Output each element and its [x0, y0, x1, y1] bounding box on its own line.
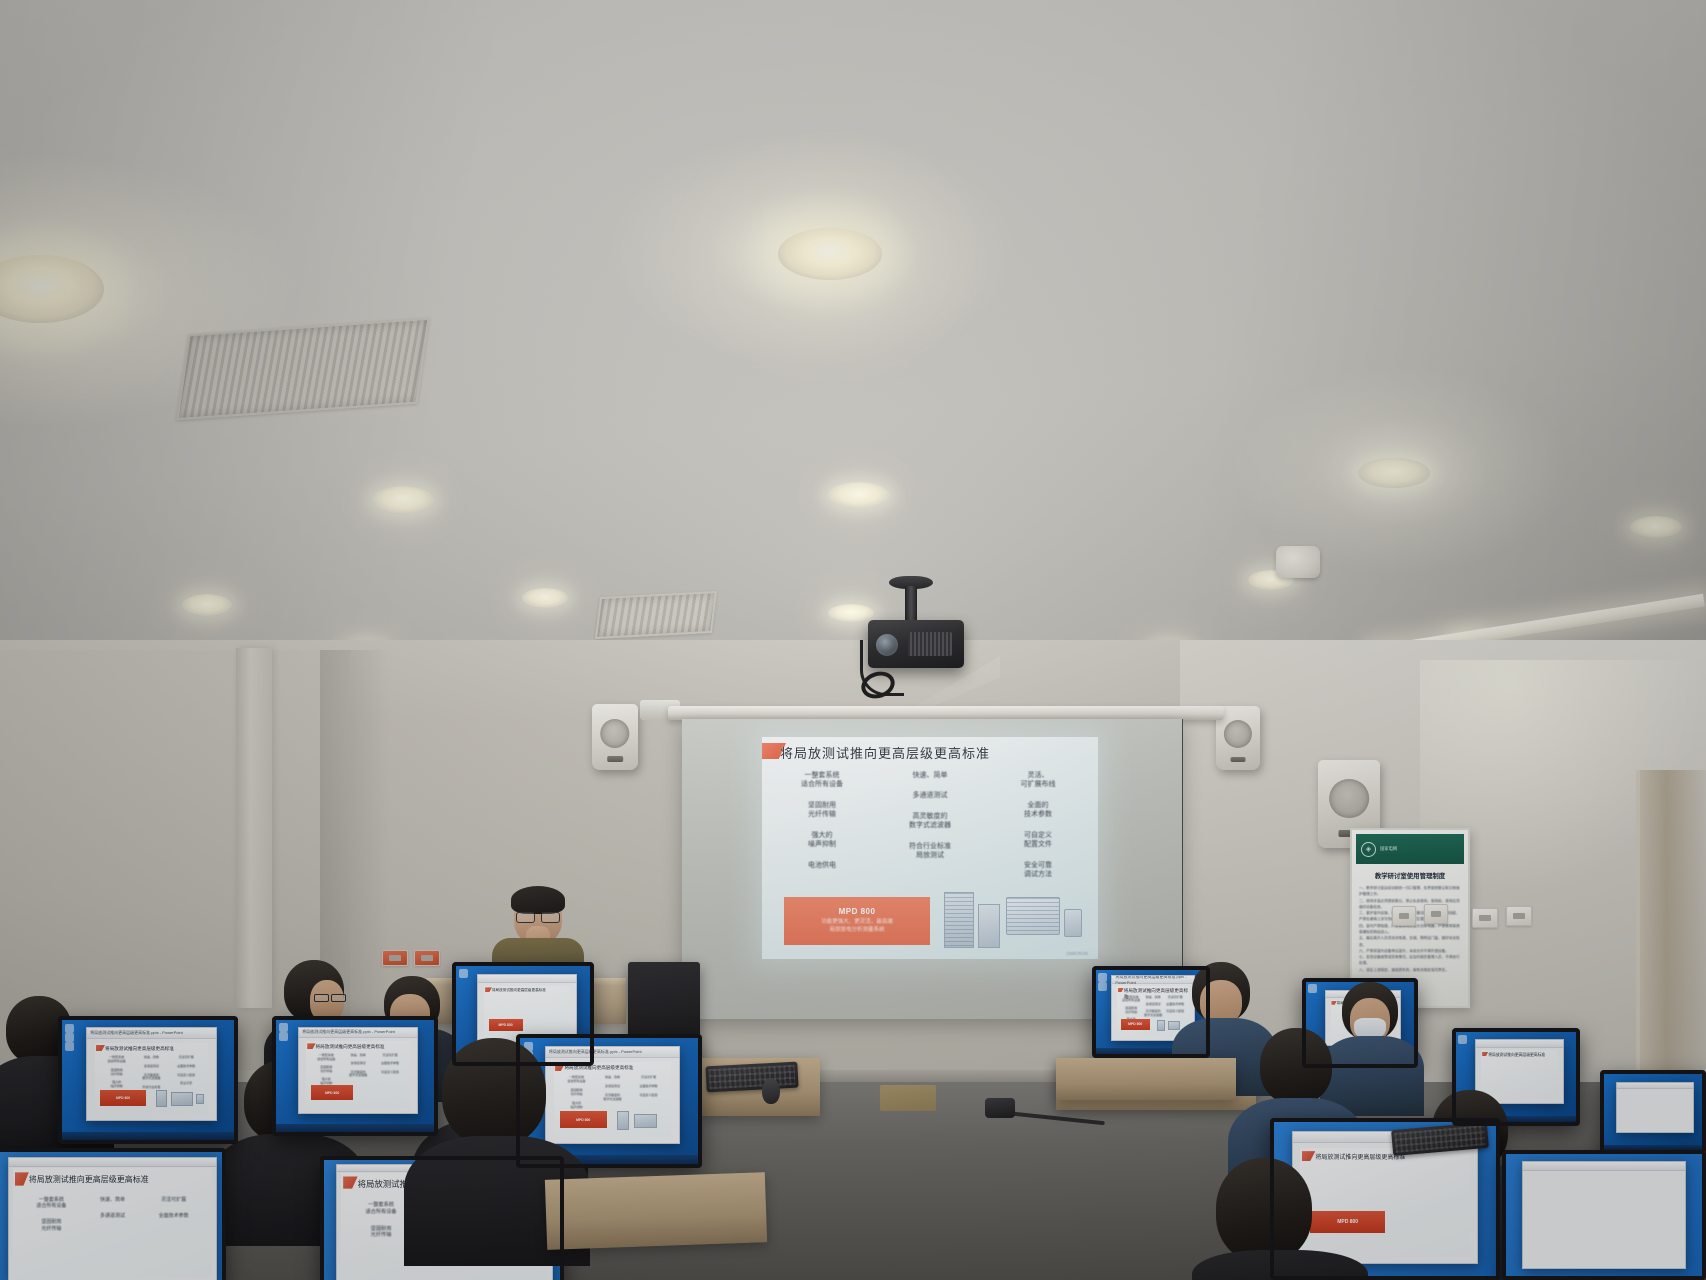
- wall-sign-rule: 八、违反上述规定、造成损失的，按有关规定追究责任。: [1359, 967, 1461, 973]
- floor-access-panel: [880, 1085, 936, 1111]
- slide-column-1: 一整套系统 适合所有设备 坚固耐用 光纤传输 强大的 噪声抑制: [310, 1054, 342, 1083]
- monitor-screen: 将局放测试推向更高层级更高标准 一整套系统 适合所有设备 坚固耐用 光纤传输 快…: [0, 1152, 222, 1280]
- slide-item: 高灵敏度的 数字式滤波器: [909, 812, 951, 831]
- student-head: [442, 1038, 546, 1146]
- ceiling-light: [1358, 458, 1430, 488]
- glasses-icon: [516, 912, 560, 921]
- app-window[interactable]: [1616, 1082, 1694, 1134]
- ceiling-light: [182, 594, 232, 616]
- student-monitor[interactable]: 将局放测试推向更高层级更高标准 一整套系统 适合所有设备 坚固耐用 光纤传输 快…: [0, 1148, 226, 1280]
- screen-rail: [668, 706, 1224, 720]
- slide-item: 全面技术参数: [159, 1213, 189, 1220]
- air-vent: [595, 591, 717, 639]
- slide-item: 可自定义配置: [639, 1094, 657, 1098]
- wall-sign-rule: 七、发现设备故障或异常情况，应及时报告管理人员，不得自行处理。: [1359, 954, 1461, 967]
- student-head: [1216, 1158, 1312, 1262]
- desktop-icon[interactable]: [459, 969, 468, 978]
- speaker-badge: [607, 756, 623, 762]
- monitor-screen: [1604, 1074, 1702, 1150]
- slide-column-1: 一整套系统 适合所有设备 坚固耐用 光纤传输 强大的 噪声抑制 电池供电: [768, 767, 876, 887]
- slide-item: 一整套系统 适合所有设备: [108, 1056, 126, 1064]
- slide-title: 将局放测试推向更高层级更高标准: [780, 743, 1080, 762]
- ceiling-light: [828, 604, 874, 622]
- wall-sign-body: 一、教学研讨室由培训部统一归口管理，负责使用登记和日常维护管理工作。 二、使用本…: [1352, 880, 1468, 973]
- slide-item: 灵活可扩展: [179, 1056, 194, 1060]
- instructor-hair: [511, 886, 565, 914]
- slide-device-image: [1006, 897, 1060, 935]
- slide-product-name: MPD 800: [839, 907, 876, 916]
- wall-sign-rule: 一、教学研讨室由培训部统一归口管理，负责使用登记和日常维护管理工作。: [1359, 885, 1461, 898]
- slide-item: 坚固耐用 光纤传输: [371, 1226, 392, 1240]
- projector-pole: [905, 586, 917, 622]
- slide-item: 多通道测试: [913, 791, 948, 800]
- monitor-screen: 将局放测试推向更高层级更高标准.pptx - PowerPoint 将局放测试推…: [276, 1020, 434, 1132]
- slide-item: 全面技术参数: [177, 1065, 195, 1069]
- monitor-screen: [1506, 1154, 1702, 1276]
- desktop-icon[interactable]: [279, 1032, 288, 1041]
- slide-columns: 一整套系统 适合所有设备 坚固耐用 光纤传输 快速、简单 多通道测试 灵活可扩展…: [21, 1197, 204, 1263]
- ceiling-light: [828, 482, 890, 508]
- ceiling-light: [522, 588, 568, 608]
- desktop-icon[interactable]: [1098, 973, 1107, 982]
- slide-item: 高灵敏度的 数字式滤波器: [349, 1071, 367, 1079]
- slide-item: 可自定义配置: [381, 1071, 399, 1075]
- speaker-cone-icon: [1329, 779, 1369, 818]
- slide-item: 坚固耐用 光纤传输: [41, 1219, 61, 1232]
- slide-device-image: [156, 1090, 167, 1107]
- desktop-icon[interactable]: [65, 1042, 74, 1051]
- slide-item: 一整套系统 适合所有设备: [317, 1054, 335, 1062]
- slide-item: 可自定义配置: [177, 1074, 195, 1078]
- slide-item: 多通道测试: [605, 1085, 620, 1089]
- slide-column-1: 一整套系统 适合所有设备 坚固耐用 光纤传输 强大的 噪声抑制 电池供电: [99, 1056, 134, 1087]
- powerpoint-window[interactable]: 将局放测试推向更高层级更高标准.pptx - PowerPoint 将局放测试推…: [86, 1027, 217, 1121]
- slide-item: 全面技术参数: [381, 1062, 399, 1066]
- slide-item: 一整套系统 适合所有设备: [36, 1197, 66, 1210]
- slide-item: 灵活、 可扩展布线: [1021, 771, 1056, 790]
- slide-item: 一整套系统 适合所有设备: [365, 1202, 396, 1216]
- slide-item: 全面技术参数: [639, 1085, 657, 1089]
- slide-device-image: [634, 1114, 657, 1128]
- slide-item: 快速、简单: [351, 1054, 366, 1058]
- slide-item: 一整套系统 适合所有设备: [1122, 996, 1140, 1004]
- speaker-cone-icon: [1224, 720, 1252, 748]
- smoke-detector: [1276, 546, 1320, 578]
- slide-item: 坚固耐用 光纤传输: [808, 801, 836, 820]
- desktop-icon[interactable]: [1458, 1035, 1467, 1044]
- slide-device-image: [196, 1094, 204, 1104]
- wall-outlet[interactable]: [1392, 906, 1416, 926]
- slide-device-image: [978, 904, 1000, 948]
- powerpoint-window[interactable]: 将局放测试推向更高层级更高标准.pptx - PowerPoint 将局放测试推…: [298, 1027, 418, 1114]
- slide-item: 快速、简单: [913, 771, 948, 780]
- wall-pillar: [236, 648, 272, 1008]
- desktop-icons[interactable]: [1458, 1035, 1467, 1044]
- slide-columns: 一整套系统 适合所有设备 坚固耐用 光纤传输 强大的 噪声抑制 电池供电 快速、…: [768, 767, 1092, 887]
- window-title: [9, 1158, 217, 1167]
- desktop-icons[interactable]: [279, 1023, 288, 1041]
- slide-item: 电池供电: [808, 861, 836, 870]
- slide-product-badge: MPD 800: [311, 1085, 353, 1100]
- window-title: [1476, 1040, 1563, 1048]
- slide-item: 多通道测试: [1146, 1003, 1161, 1007]
- wall-outlet[interactable]: [1472, 908, 1498, 928]
- slide-item: 强大的 噪声抑制: [808, 831, 836, 850]
- slide-title: 将局放测试推向更高层级更高标准: [564, 1065, 633, 1071]
- desk: [1056, 1058, 1236, 1100]
- desktop-icons[interactable]: [459, 969, 468, 978]
- slide-device-detail: [1007, 898, 1059, 934]
- slide-column-2: 快速、简单 多通道测试: [82, 1197, 143, 1263]
- slide-device-image: [171, 1092, 194, 1106]
- slide-title-accent: [15, 1172, 29, 1185]
- speaker-cone-icon: [600, 719, 629, 748]
- ceiling-light: [778, 228, 882, 280]
- student: [1216, 1158, 1356, 1280]
- slide-item: 快速、简单: [1146, 996, 1161, 1000]
- student-monitor[interactable]: [1502, 1150, 1706, 1280]
- student-monitor[interactable]: [1600, 1070, 1706, 1154]
- slide-device-image: [1064, 909, 1082, 937]
- wall-speaker-left: [592, 704, 638, 770]
- slide-preview: 将局放测试推向更高层级更高标准 MPD 800: [484, 986, 569, 1040]
- app-window[interactable]: [1522, 1161, 1687, 1268]
- window-title: [1617, 1083, 1693, 1089]
- student-monitor[interactable]: 将局放测试推向更高层级更高标准.pptx - PowerPoint 将局放测试推…: [272, 1016, 438, 1136]
- slide-footer-right: OMICRON: [1066, 951, 1088, 956]
- slide-item: 高灵敏度的 数字式滤波器: [604, 1094, 622, 1102]
- slide-item: 多通道测试: [100, 1213, 125, 1220]
- slide-device-image: [617, 1111, 629, 1129]
- wall-sign-org: 国家电网: [1380, 846, 1397, 851]
- slide-title: 将局放测试推向更高层级更高标准: [316, 1044, 385, 1050]
- slide-column-2: 快速、简单 多通道测试 高灵敏度的 数字式滤波器: [1142, 996, 1164, 1018]
- slide-column-2: 快速、简单 多通道测试 高灵敏度的 数字式滤波器 符合行业标准: [134, 1056, 169, 1087]
- keyboard[interactable]: [705, 1062, 798, 1093]
- slide-column-2: 快速、简单 多通道测试 高灵敏度的 数字式滤波器: [342, 1054, 374, 1083]
- desktop-icons[interactable]: [1098, 973, 1107, 991]
- slide-item: 灵活可扩展: [161, 1197, 186, 1204]
- window-title: [1523, 1162, 1686, 1170]
- slide-product-caption: 功能更强大、更灵活，最高端 局部放电分析测量系统: [821, 919, 893, 934]
- slide-column-2: 快速、简单 多通道测试 高灵敏度的 数字式滤波器 符合行业标准 局放测试: [876, 767, 984, 887]
- slide-column-3: 灵活可扩展 全面技术参数 可自定义配置 安全可靠: [169, 1056, 204, 1087]
- projected-slide: 将局放测试推向更高层级更高标准 一整套系统 适合所有设备 坚固耐用 光纤传输 强…: [762, 737, 1098, 959]
- slide-column-2: 快速、简单 多通道测试 高灵敏度的 数字式滤波器: [595, 1076, 631, 1109]
- desktop-icon[interactable]: [65, 1024, 74, 1033]
- slide-device-image: [1157, 1020, 1165, 1031]
- slide-item: 可自定义 配置文件: [1024, 831, 1052, 850]
- slide-item: 符合行业标准 局放测试: [909, 842, 951, 861]
- desktop-icon[interactable]: [65, 1033, 74, 1042]
- slide-preview: 将局放测试推向更高层级更高标准 一整套系统 适合所有设备 坚固耐用 光纤传输 快…: [13, 1168, 212, 1278]
- slide-columns: 一整套系统 适合所有设备 坚固耐用 光纤传输 强大的 噪声抑制 快速、简单 多通…: [310, 1054, 406, 1083]
- monitor-screen: 将局放测试推向更高层级更高标准.pptx - PowerPoint 将局放测试推…: [62, 1020, 234, 1140]
- slide-product-badge: MPD 800: [489, 1019, 523, 1031]
- student-monitor[interactable]: 将局放测试推向更高层级更高标准.pptx - PowerPoint 将局放测试推…: [58, 1016, 238, 1144]
- slide-product-badge: MPD 800: [1121, 1019, 1150, 1030]
- photo-scene: 将局放测试推向更高层级更高标准 一整套系统 适合所有设备 坚固耐用 光纤传输 强…: [0, 0, 1706, 1280]
- slide-title-accent: [307, 1043, 315, 1049]
- slide-item: 坚固耐用 光纤传输: [111, 1069, 123, 1077]
- slide-product-highlight: MPD 800 功能更强大、更灵活，最高端 局部放电分析测量系统: [784, 897, 930, 945]
- slide-item: 快速、简单: [605, 1076, 620, 1080]
- speaker-badge: [1231, 757, 1246, 763]
- desktop-icon[interactable]: [279, 1023, 288, 1032]
- slide-title: 将局放测试推向更高层级更高标准: [492, 988, 546, 993]
- wall-sign-rule: 五、最后离开人员须关闭电源、空调、照明及门窗，做好安全检查。: [1359, 935, 1461, 948]
- slide-column-3: 灵活、 可扩展布线 全面的 技术参数 可自定义 配置文件 安全可靠 调试方法: [984, 767, 1092, 887]
- slide-item: 坚固耐用 光纤传输: [320, 1066, 332, 1074]
- slide-footer: OMICRON: [772, 951, 1088, 956]
- desktop-icons[interactable]: [65, 1024, 74, 1051]
- wall-sign-header: ◈ 国家电网: [1356, 834, 1464, 864]
- slide-item: 快速、简单: [144, 1056, 159, 1060]
- slide-device-detail: [945, 893, 973, 947]
- slide-product-badge: MPD 800: [100, 1090, 145, 1106]
- floor-power-box: [985, 1098, 1015, 1118]
- wall-outlet[interactable]: [414, 950, 440, 966]
- slide-item: 安全可靠 调试方法: [1024, 861, 1052, 880]
- slide-item: 全面的 技术参数: [1024, 801, 1052, 820]
- slide-title: 将局放测试推向更高层级更高标准: [105, 1046, 174, 1052]
- slide-item: 灵活可扩展: [641, 1076, 656, 1080]
- window-title: 将局放测试推向更高层级更高标准.pptx - PowerPoint: [87, 1028, 216, 1039]
- window-title: 将局放测试推向更高层级更高标准.pptx - PowerPoint: [299, 1028, 417, 1038]
- slide-columns: 一整套系统 适合所有设备 坚固耐用 光纤传输 强大的 噪声抑制 快速、简单 多通…: [559, 1076, 667, 1109]
- slide-title-accent: [343, 1176, 357, 1188]
- slide-item: 一整套系统 适合所有设备: [801, 771, 843, 790]
- slide-title-accent: [96, 1045, 105, 1051]
- slide-columns: 一整套系统 适合所有设备 坚固耐用 光纤传输 强大的 噪声抑制 电池供电 快速、…: [99, 1056, 203, 1087]
- slide-column-1: 一整套系统 适合所有设备 坚固耐用 光纤传输 强大的 噪声抑制: [1120, 996, 1142, 1018]
- wall-outlet[interactable]: [382, 950, 408, 966]
- window-title: [478, 975, 575, 983]
- slide-column-3: 灵活可扩展 全面技术参数: [143, 1197, 204, 1263]
- slide-column-3: 灵活可扩展 全面技术参数 可自定义配置: [630, 1076, 666, 1109]
- desktop-icon[interactable]: [1098, 982, 1107, 991]
- slide-column-1: 一整套系统 适合所有设备 坚固耐用 光纤传输: [21, 1197, 82, 1263]
- taskbar[interactable]: [62, 1132, 234, 1140]
- slide-item: 高灵敏度的 数字式滤波器: [1144, 1010, 1162, 1018]
- desktop-icon[interactable]: [1308, 984, 1317, 993]
- glasses-icon: [314, 994, 346, 1000]
- wall-sign-title: 教学研讨室使用管理制度: [1352, 871, 1468, 880]
- mouse[interactable]: [762, 1078, 780, 1104]
- slide-title: 将局放测试推向更高层级更高标准: [1488, 1052, 1545, 1058]
- powerpoint-window[interactable]: 将局放测试推向更高层级更高标准 一整套系统 适合所有设备 坚固耐用 光纤传输 快…: [8, 1157, 218, 1280]
- desktop-icons[interactable]: [1308, 984, 1317, 993]
- slide-title-accent: [485, 987, 492, 992]
- slide-preview: 将局放测试推向更高层级更高标准 一整套系统 适合所有设备 坚固耐用 光纤传输 强…: [95, 1043, 208, 1114]
- slide-column-3: 灵活可扩展 全面技术参数 可自定义配置: [374, 1054, 406, 1083]
- wall-outlet[interactable]: [1506, 906, 1532, 926]
- ceiling-light: [372, 486, 434, 514]
- slide-title: 将局放测试推向更高层级更高标准: [29, 1174, 149, 1185]
- desk: [545, 1172, 767, 1250]
- slide-item: 多通道测试: [351, 1062, 366, 1066]
- taskbar[interactable]: [276, 1124, 434, 1132]
- slide-item: 安全可靠: [180, 1082, 192, 1086]
- slide-item: 多通道测试: [144, 1065, 159, 1069]
- slide-device-image: [944, 892, 974, 948]
- air-vent: [176, 318, 429, 420]
- slide-item: 高灵敏度的 数字式滤波器: [142, 1074, 160, 1082]
- student-shoulders: [1192, 1250, 1368, 1280]
- slide-preview: 将局放测试推向更高层级更高标准 一整套系统 适合所有设备 坚固耐用 光纤传输 强…: [306, 1041, 410, 1108]
- state-grid-logo-icon: ◈: [1361, 842, 1376, 857]
- student-head: [1260, 1028, 1332, 1104]
- slide-item: 坚固耐用 光纤传输: [1125, 1007, 1137, 1015]
- ceiling-light: [1630, 516, 1682, 538]
- slide-item: 灵活可扩展: [382, 1054, 397, 1058]
- wall-outlet[interactable]: [1424, 904, 1448, 924]
- projector-vent: [908, 632, 952, 656]
- slide-item: 强大的 噪声抑制: [111, 1081, 123, 1089]
- slide-item: 快速、简单: [100, 1197, 125, 1204]
